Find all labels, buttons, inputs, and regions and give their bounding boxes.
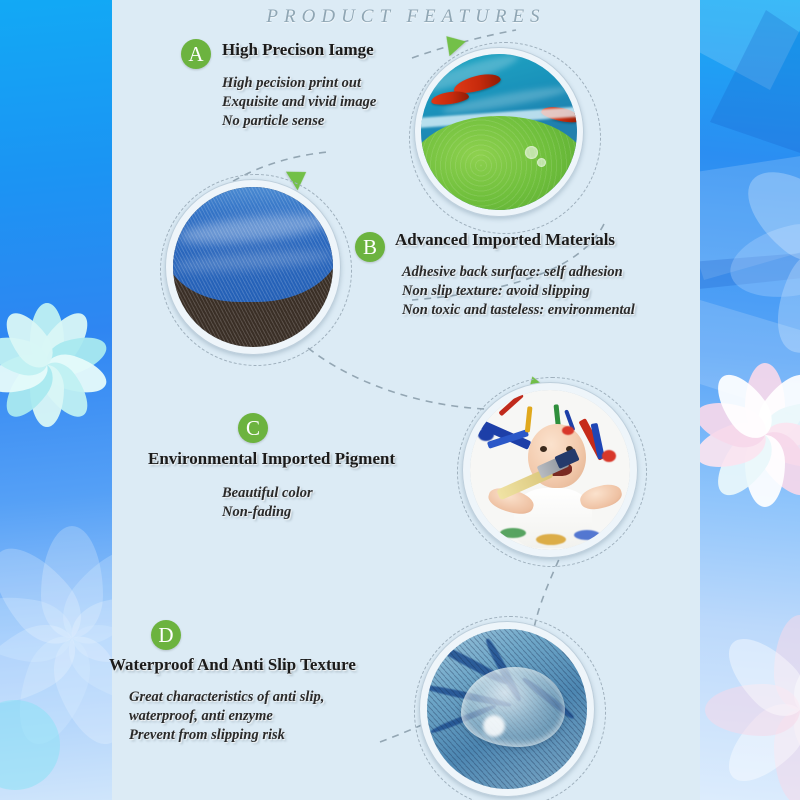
feature-lines-c: Beautiful color Non-fading <box>222 484 313 522</box>
koi-pond-photo <box>405 38 605 238</box>
koi-pad-texture <box>421 116 577 210</box>
feature-lines-b: Adhesive back surface: self adhesion Non… <box>402 263 635 320</box>
page-title: PRODUCT FEATURES <box>112 6 700 28</box>
paint-splat-red-3 <box>602 450 616 462</box>
photo-b-image <box>173 187 333 347</box>
feature-b-line-3: Non toxic and tasteless: environmental <box>402 301 635 320</box>
koi-bubble-2 <box>537 158 546 167</box>
badge-c: C <box>238 413 268 443</box>
photo-c-image <box>470 390 630 550</box>
right-flower-bottom-icon <box>710 620 800 800</box>
feature-b-line-1: Adhesive back surface: self adhesion <box>402 263 635 282</box>
blue-fabric-texture-photo <box>156 170 356 370</box>
water-droplet <box>461 667 565 747</box>
feature-c-line-1: Beautiful color <box>222 484 313 503</box>
feature-a-line-1: High pecision print out <box>222 74 376 93</box>
baby-eye-left <box>540 446 547 452</box>
badge-a: A <box>181 39 211 69</box>
koi-bubble-1 <box>525 146 538 159</box>
paint-on-forehead <box>562 426 574 435</box>
right-decorative-band <box>700 0 800 800</box>
badge-d: D <box>151 620 181 650</box>
feature-d-line-1: Great characteristics of anti slip, <box>129 688 324 707</box>
fabric-weave-texture <box>173 187 333 347</box>
baby-painting-photo <box>452 372 652 572</box>
floor-paint-blue <box>574 530 600 540</box>
feature-lines-a: High pecision print out Exquisite and vi… <box>222 74 376 131</box>
photo-a-image <box>421 54 577 210</box>
feature-title-c: Environmental Imported Pigment <box>148 449 395 469</box>
content-panel: PRODUCT FEATURES A High Precison Iamge <box>112 0 700 800</box>
droplet-highlight <box>483 715 505 737</box>
feature-a-line-3: No particle sense <box>222 112 376 131</box>
paint-splat-blue-3 <box>478 428 494 441</box>
feature-b-line-2: Non slip texture: avoid slipping <box>402 282 635 301</box>
feature-a-line-2: Exquisite and vivid image <box>222 93 376 112</box>
floor-paint-yellow <box>536 534 566 545</box>
right-flower-icon <box>700 360 800 510</box>
product-features-poster: PRODUCT FEATURES A High Precison Iamge <box>0 0 800 800</box>
feature-lines-d: Great characteristics of anti slip, wate… <box>129 688 324 745</box>
water-droplet-photo <box>410 612 610 800</box>
feature-title-d: Waterproof And Anti Slip Texture <box>109 655 356 675</box>
feature-d-line-3: Prevent from slipping risk <box>129 726 324 745</box>
badge-b: B <box>355 232 385 262</box>
left-decorative-band <box>0 0 112 800</box>
right-flower-large-icon <box>740 150 800 350</box>
floor-paint-green <box>500 528 526 538</box>
photo-d-image <box>427 629 587 789</box>
feature-title-a: High Precison Iamge <box>222 40 374 60</box>
feature-c-line-2: Non-fading <box>222 503 313 522</box>
feature-d-line-2: waterproof, anti enzyme <box>129 707 324 726</box>
left-flower-icon <box>0 300 112 430</box>
feature-title-b: Advanced Imported Materials <box>395 230 615 250</box>
